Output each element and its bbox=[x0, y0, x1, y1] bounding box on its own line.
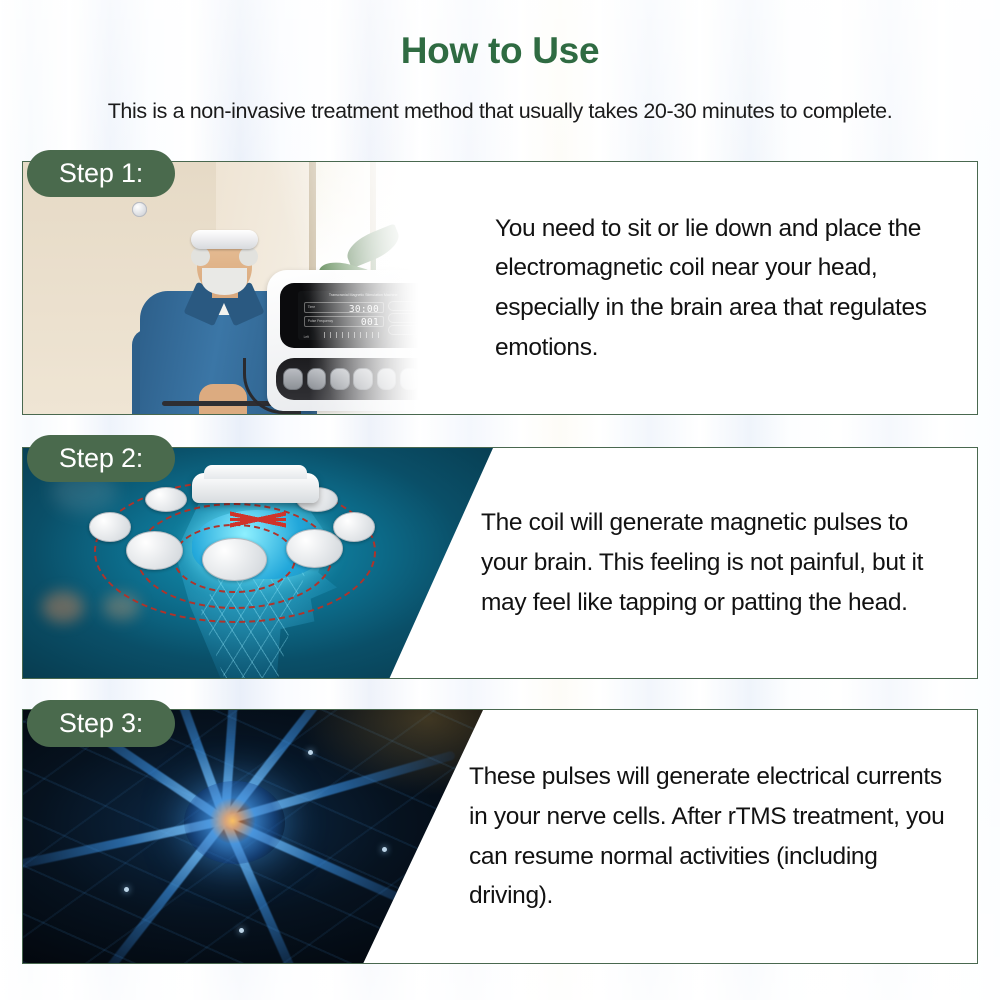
coil-pad-icon bbox=[126, 531, 182, 570]
step-3-description: These pulses will generate electrical cu… bbox=[453, 757, 977, 916]
background-bokeh bbox=[42, 591, 84, 623]
step-2-description: The coil will generate magnetic pulses t… bbox=[463, 503, 977, 622]
step-2-badge: Step 2: bbox=[27, 435, 175, 482]
step-2-image bbox=[23, 448, 493, 678]
step-1-text-area: You need to sit or lie down and place th… bbox=[471, 162, 977, 414]
step-panel-3: These pulses will generate electrical cu… bbox=[22, 709, 978, 964]
particle-dot bbox=[382, 847, 387, 852]
tms-helmet-top bbox=[204, 465, 307, 479]
step-1-description: You need to sit or lie down and place th… bbox=[471, 209, 977, 368]
patient-hair-left bbox=[191, 247, 209, 266]
step-3-text-area: These pulses will generate electrical cu… bbox=[453, 710, 977, 963]
patient-hands bbox=[199, 384, 247, 414]
tms-headset bbox=[191, 230, 258, 249]
magnetic-pulse-icon bbox=[230, 499, 286, 540]
step-panel-2: The coil will generate magnetic pulses t… bbox=[22, 447, 978, 679]
patient-hair-right bbox=[239, 247, 257, 266]
step-1-image: Transcranial Magnetic Stimulation Machin… bbox=[23, 162, 443, 414]
image-fade-edge bbox=[309, 162, 443, 414]
step-panel-1: Transcranial Magnetic Stimulation Machin… bbox=[22, 161, 978, 415]
neuron-cell-body bbox=[184, 781, 285, 864]
step-2-text-area: The coil will generate magnetic pulses t… bbox=[463, 448, 977, 678]
coil-pad-icon bbox=[286, 529, 342, 568]
page-title: How to Use bbox=[0, 30, 1000, 72]
step-3-badge: Step 3: bbox=[27, 700, 175, 747]
particle-dot bbox=[239, 928, 244, 933]
step-1-badge: Step 1: bbox=[27, 150, 175, 197]
page-subtitle: This is a non-invasive treatment method … bbox=[0, 99, 1000, 124]
headset-coil-icon bbox=[132, 202, 147, 217]
step-3-image bbox=[23, 710, 483, 963]
infographic-root: How to Use This is a non-invasive treatm… bbox=[0, 0, 1000, 1000]
